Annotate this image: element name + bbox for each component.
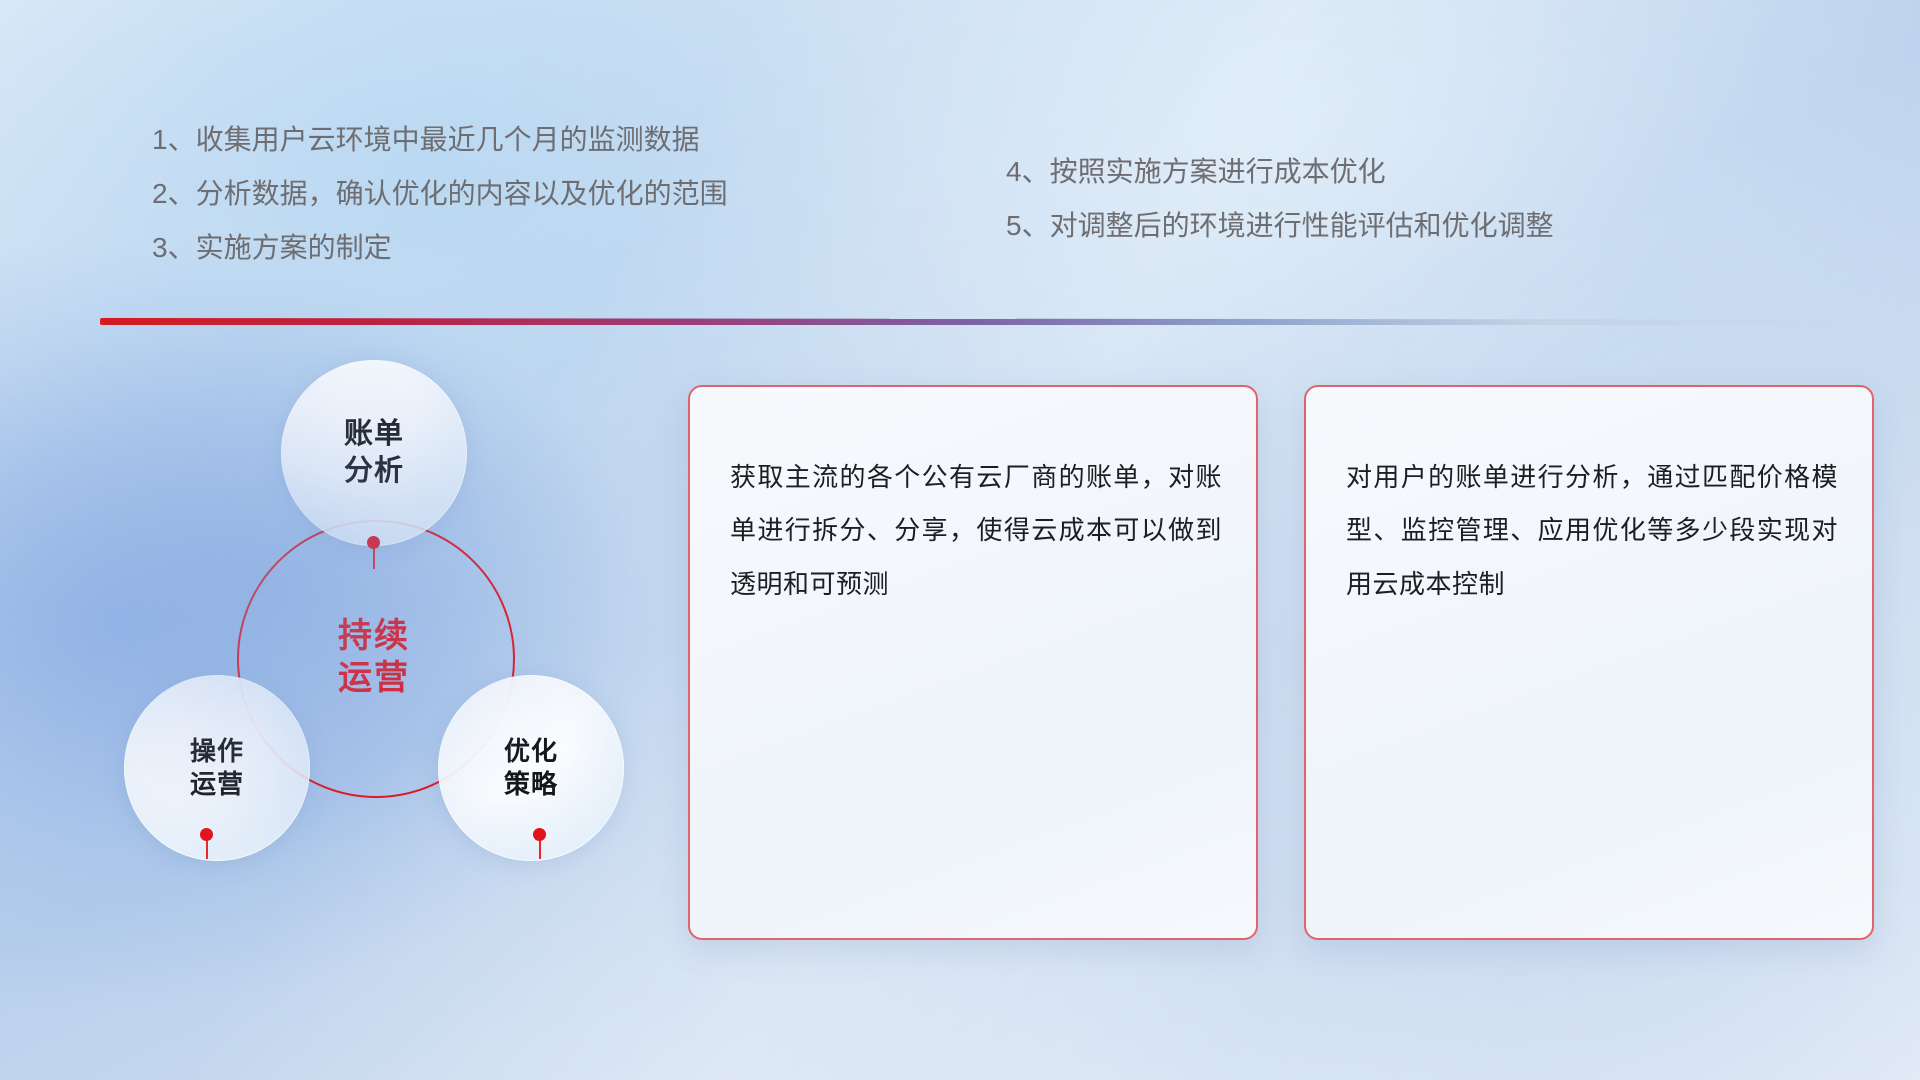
list-item-number: 2、 [152, 180, 196, 208]
list-item: 4、 按照实施方案进行成本优化 [1006, 158, 1554, 186]
list-item-label: 实施方案的制定 [196, 234, 392, 262]
connector-tick-right [539, 839, 541, 859]
venn-node-label-line1: 操作 [190, 735, 244, 768]
card-cloud-cost-optimization[interactable]: 对用户的账单进行分析，通过匹配价格模型、监控管理、应用优化等多少段实现对用云成本… [1304, 385, 1874, 940]
list-item-label: 收集用户云环境中最近几个月的监测数据 [196, 126, 700, 154]
venn-node-label-line1: 账单 [344, 416, 404, 453]
list-item-number: 1、 [152, 126, 196, 154]
section-divider-rule [100, 318, 1850, 325]
card-body-text: 对用户的账单进行分析，通过匹配价格模型、监控管理、应用优化等多少段实现对用云成本… [1346, 451, 1838, 611]
venn-node-bill-analysis[interactable]: 账单 分析 [281, 360, 467, 546]
venn-node-label-line1: 优化 [504, 735, 558, 768]
list-item: 5、 对调整后的环境进行性能评估和优化调整 [1006, 212, 1554, 240]
list-item-number: 3、 [152, 234, 196, 262]
connector-tick-left [206, 839, 208, 859]
list-item-number: 5、 [1006, 212, 1050, 240]
venn-node-label-line2: 运营 [190, 768, 244, 801]
slide-canvas: 1、 收集用户云环境中最近几个月的监测数据 2、 分析数据，确认优化的内容以及优… [0, 0, 1920, 1080]
list-item-label: 分析数据，确认优化的内容以及优化的范围 [196, 180, 728, 208]
connector-tick-top [373, 547, 375, 569]
list-item: 3、 实施方案的制定 [152, 234, 728, 262]
list-item: 1、 收集用户云环境中最近几个月的监测数据 [152, 126, 728, 154]
venn-center-label-line2: 运营 [338, 657, 410, 699]
card-multi-cloud-billing-platform[interactable]: 获取主流的各个公有云厂商的账单，对账单进行拆分、分享，使得云成本可以做到透明和可… [688, 385, 1258, 940]
venn-node-label-line2: 分析 [344, 453, 404, 490]
list-item: 2、 分析数据，确认优化的内容以及优化的范围 [152, 180, 728, 208]
card-body-text: 获取主流的各个公有云厂商的账单，对账单进行拆分、分享，使得云成本可以做到透明和可… [730, 451, 1222, 611]
list-item-number: 4、 [1006, 158, 1050, 186]
connector-dot-right [533, 828, 546, 841]
steps-list-right: 4、 按照实施方案进行成本优化 5、 对调整后的环境进行性能评估和优化调整 [1006, 158, 1554, 266]
list-item-label: 按照实施方案进行成本优化 [1050, 158, 1386, 186]
venn-node-label-line2: 策略 [504, 768, 558, 801]
venn-center-label-line1: 持续 [338, 615, 410, 657]
steps-list-left: 1、 收集用户云环境中最近几个月的监测数据 2、 分析数据，确认优化的内容以及优… [152, 126, 728, 288]
list-item-label: 对调整后的环境进行性能评估和优化调整 [1050, 212, 1554, 240]
connector-dot-top [367, 536, 380, 549]
venn-diagram: 账单 分析 操作 运营 优化 策略 持续 运营 [100, 355, 640, 955]
connector-dot-left [200, 828, 213, 841]
